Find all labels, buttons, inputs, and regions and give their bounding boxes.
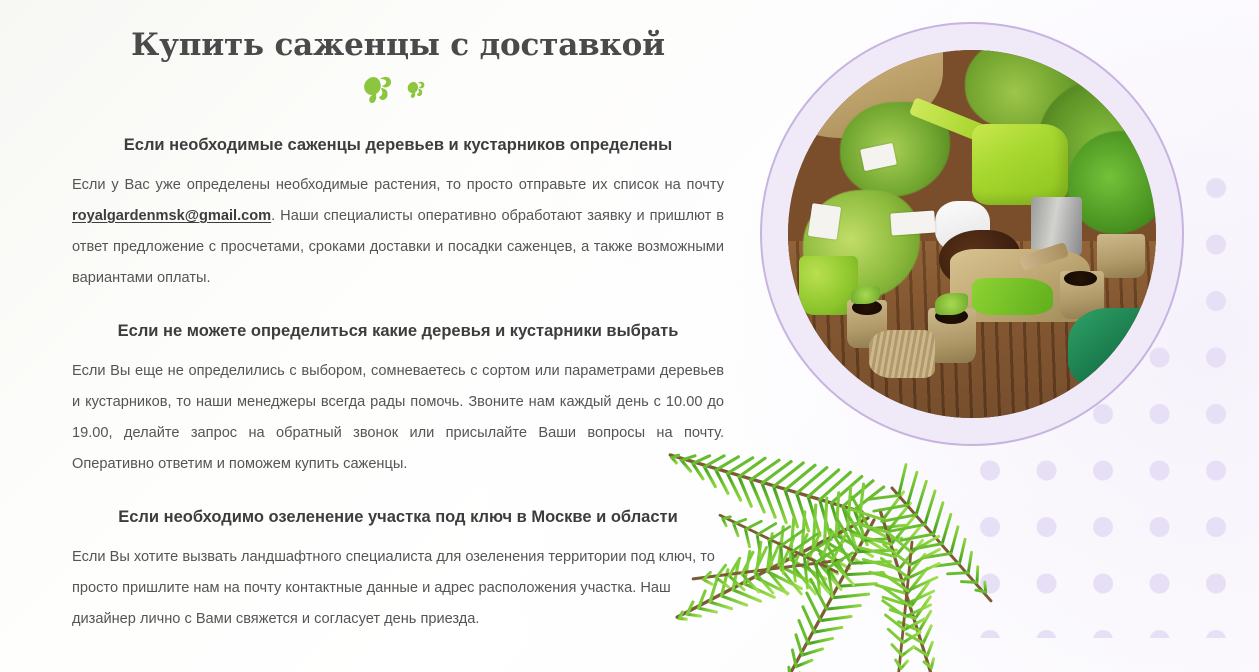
- email-link[interactable]: royalgardenmsk@gmail.com: [72, 208, 271, 224]
- content-column: Купить саженцы с доставкой Если не: [72, 0, 724, 635]
- sprout-leaves-ornament: [72, 74, 724, 108]
- section-body-1: Если у Вас уже определены необходимые ра…: [72, 170, 724, 294]
- section-body-3: Если Вы хотите вызвать ландшафтного спец…: [72, 542, 724, 635]
- section-turnkey-landscaping: Если необходимо озеленение участка под к…: [72, 506, 724, 635]
- section-heading-2: Если не можете определиться какие деревь…: [72, 320, 724, 342]
- page-title: Купить саженцы с доставкой: [72, 0, 724, 64]
- gardening-supplies-photo: [788, 50, 1156, 418]
- section-undecided-choice: Если не можете определиться какие деревь…: [72, 320, 724, 480]
- section-predefined-saplings: Если необходимые саженцы деревьев и куст…: [72, 134, 724, 294]
- section-body-2: Если Вы еще не определились с выбором, с…: [72, 356, 724, 480]
- section-body-1-text-before-link: Если у Вас уже определены необходимые ра…: [72, 177, 724, 193]
- page-root: Купить саженцы с доставкой Если не: [0, 0, 1259, 672]
- section-heading-3: Если необходимо озеленение участка под к…: [72, 506, 724, 528]
- section-heading-1: Если необходимые саженцы деревьев и куст…: [72, 134, 724, 156]
